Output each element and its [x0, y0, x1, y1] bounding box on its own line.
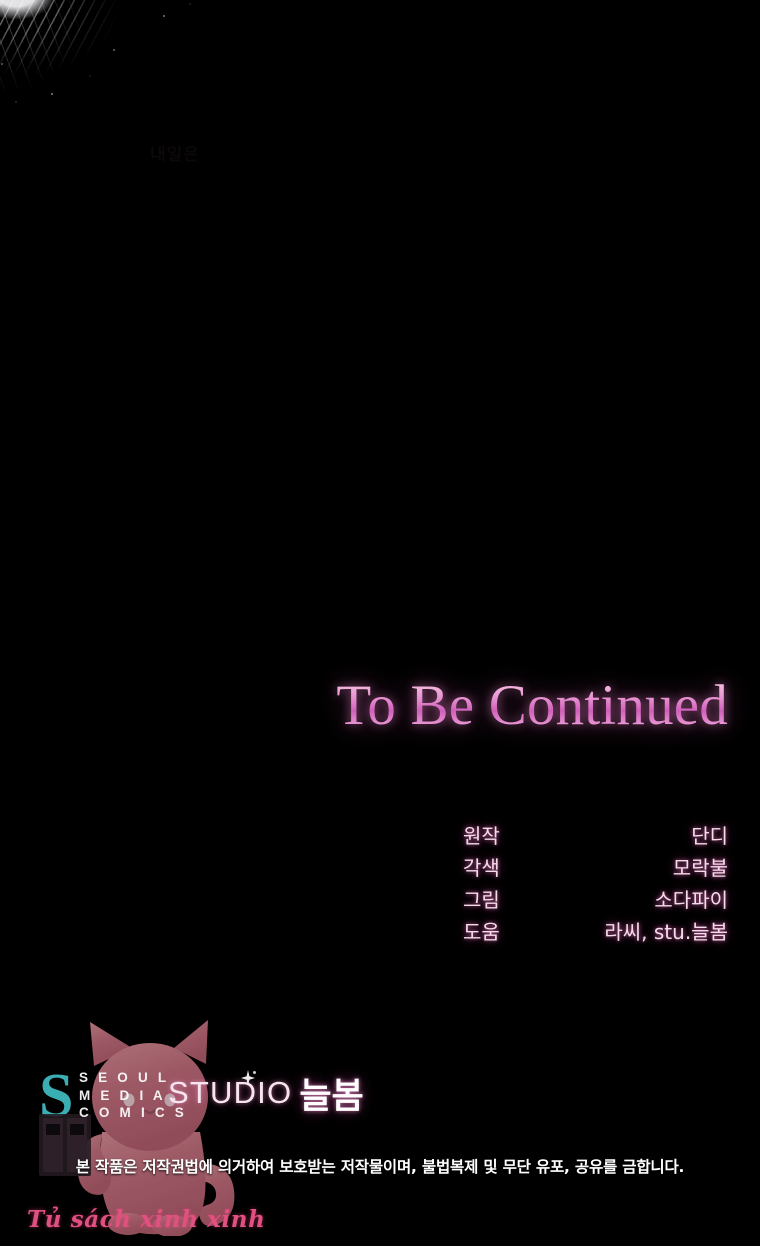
- texture-specks: [0, 0, 204, 115]
- scratch-hatch-texture: [0, 0, 204, 115]
- studio-neulbom-logo: STUDIO 늘봄: [168, 1069, 364, 1117]
- book-label-right: [70, 1124, 84, 1135]
- hatch-lines-primary: [0, 0, 204, 115]
- cat-ear-right: [174, 1020, 208, 1064]
- hatch-lines-secondary: [0, 0, 204, 115]
- smc-monogram-s: S: [39, 1066, 73, 1130]
- cat-eye-left: [124, 1094, 135, 1107]
- credit-row: 각색 모락불: [463, 852, 728, 884]
- credit-person-name: 라씨, stu.늘봄: [604, 916, 728, 948]
- webtoon-end-card-page: { "page": { "background_color": "#000000…: [0, 0, 760, 1246]
- to-be-continued-title: To Be Continued: [336, 676, 728, 736]
- credit-row: 원작 단디: [463, 820, 728, 852]
- credit-person-name: 소다파이: [654, 884, 728, 916]
- studio-hangul-name: 늘봄: [299, 1068, 363, 1119]
- studio-wordmark: STUDIO: [168, 1075, 292, 1111]
- scanlation-watermark: Tủ sách xinh xinh: [27, 1206, 265, 1233]
- to-be-continued-block: To Be Continued: [0, 676, 728, 736]
- book-label-left: [46, 1124, 60, 1135]
- faint-artwork-mark: 내일은: [150, 140, 220, 168]
- pink-cat-mascot: [66, 1014, 271, 1236]
- credit-person-name: 단디: [691, 820, 728, 852]
- credits-list: 원작 단디 각색 모락불 그림 소다파이 도움 라씨, stu.늘봄: [463, 820, 728, 948]
- credit-role-label: 그림: [463, 884, 500, 916]
- credit-row: 그림 소다파이: [463, 884, 728, 916]
- credit-person-name: 모락불: [673, 852, 728, 884]
- credit-role-label: 도움: [463, 916, 500, 948]
- credit-role-label: 각색: [463, 852, 500, 884]
- corner-ink-blob: [0, 0, 78, 40]
- credit-role-label: 원작: [463, 820, 500, 852]
- credit-row: 도움 라씨, stu.늘봄: [463, 916, 728, 948]
- cat-ear-left: [90, 1022, 132, 1066]
- cat-mouth: [145, 1110, 155, 1113]
- copyright-notice: 본 작품은 저작권법에 의거하여 보호받는 저작물이며, 불법복제 및 무단 유…: [0, 1155, 760, 1177]
